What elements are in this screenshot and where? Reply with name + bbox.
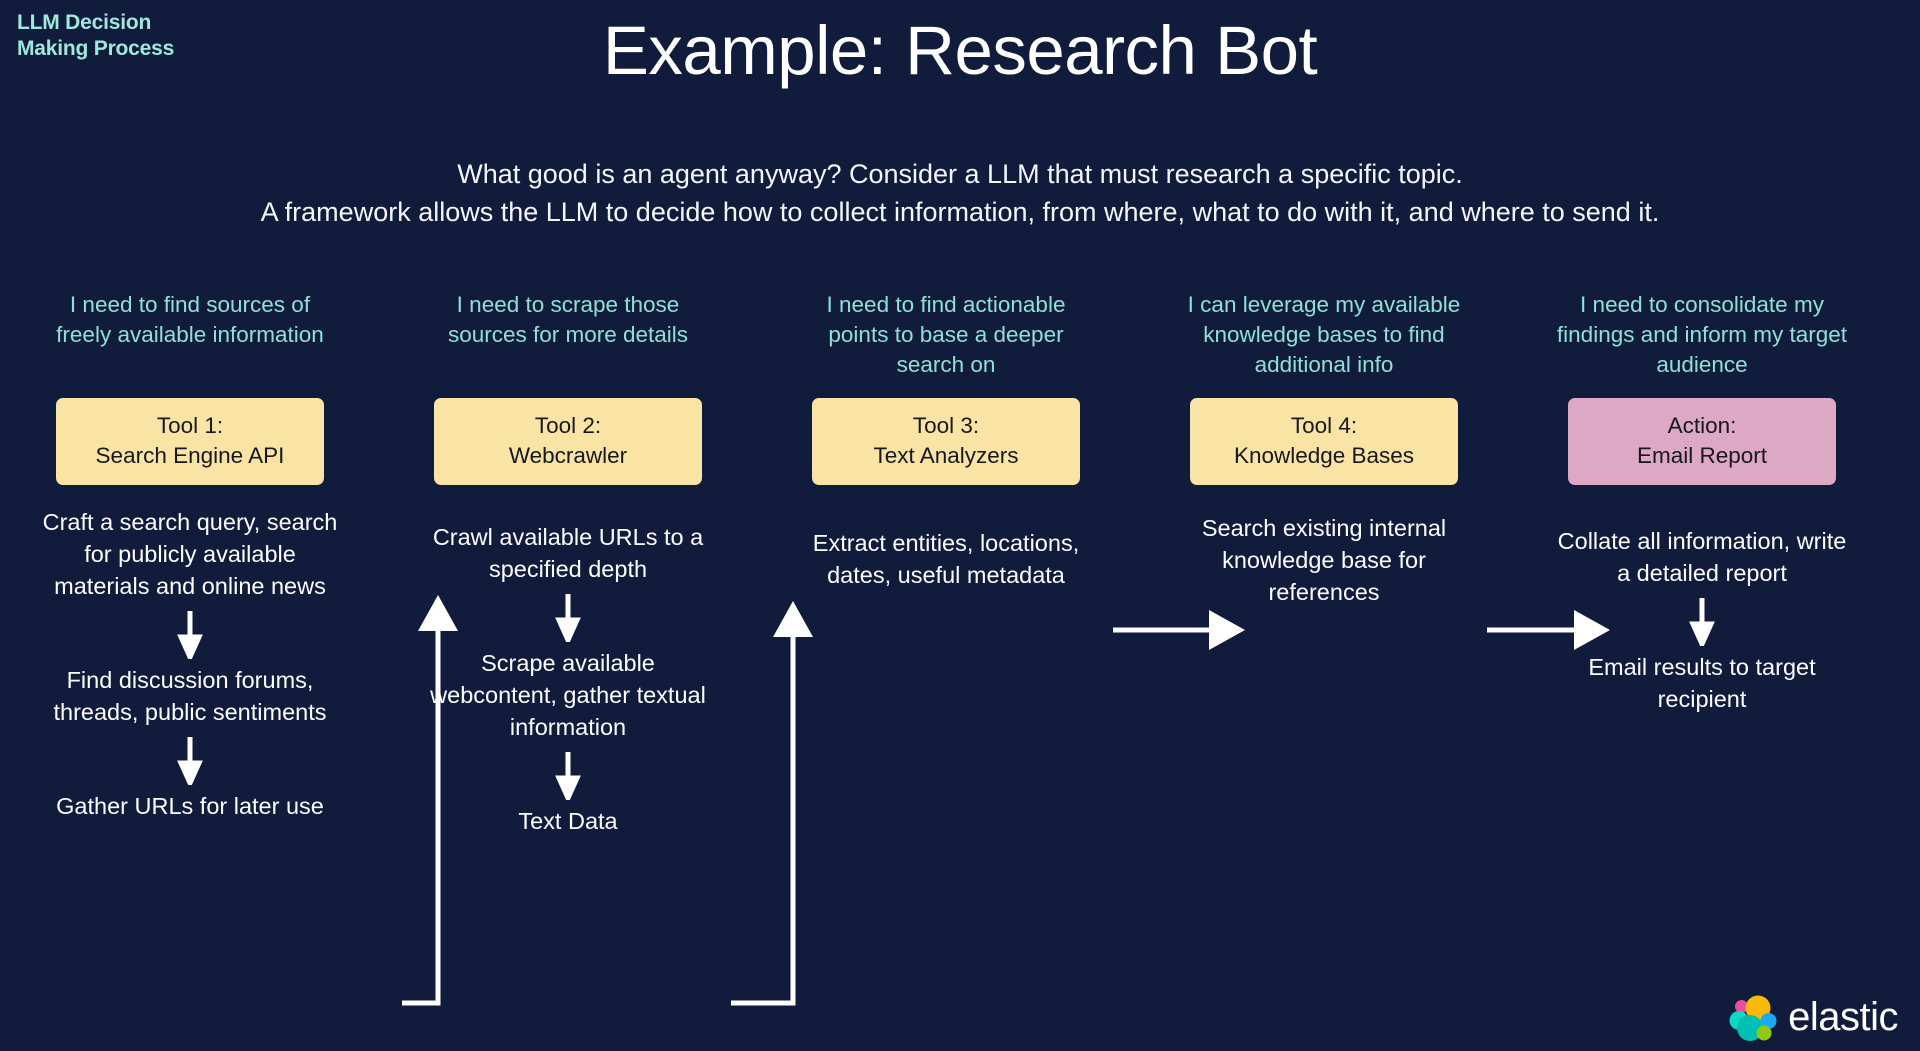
step-node: Email results to target recipient [1552,652,1852,716]
flow-column-5: I need to consolidate my findings and in… [1552,290,1852,716]
action-box-5[interactable]: Action: Email Report [1568,398,1836,485]
flow-columns: I need to find sources of freely availab… [0,290,1920,990]
tool-box-2-line1: Tool 2: [535,413,601,438]
column-intent-3: I need to find actionable points to base… [796,290,1096,394]
down-arrow-icon [1552,590,1852,652]
tool-box-1-line2: Search Engine API [62,441,318,471]
column-steps-3: Extract entities, locations, dates, usef… [796,528,1096,592]
tool-box-2-line2: Webcrawler [440,441,696,471]
tool-box-1-line1: Tool 1: [157,413,223,438]
step-node: Gather URLs for later use [40,791,340,823]
column-steps-5: Collate all information, write a detaile… [1552,526,1852,716]
down-arrow-icon [40,603,340,665]
step-node: Craft a search query, search for publicl… [40,507,340,603]
elastic-mark-icon [1728,995,1778,1043]
down-arrow-icon [418,586,718,648]
tool-box-1[interactable]: Tool 1: Search Engine API [56,398,324,485]
tool-box-3-line2: Text Analyzers [818,441,1074,471]
flow-column-1: I need to find sources of freely availab… [40,290,340,823]
column-steps-2: Crawl available URLs to a specified dept… [418,522,718,838]
step-node: Scrape available webcontent, gather text… [418,648,718,744]
column-intent-4: I can leverage my available knowledge ba… [1174,290,1474,394]
elastic-wordmark: elastic [1788,997,1898,1042]
flow-column-2: I need to scrape those sources for more … [418,290,718,838]
tool-box-3-line1: Tool 3: [913,413,979,438]
step-node: Collate all information, write a detaile… [1552,526,1852,590]
down-arrow-icon [418,744,718,806]
slide-subtitle: What good is an agent anyway? Consider a… [0,155,1920,232]
action-box-5-line1: Action: [1668,413,1737,438]
step-node: Extract entities, locations, dates, usef… [796,528,1096,592]
step-node: Search existing internal knowledge base … [1174,513,1474,609]
step-node: Find discussion forums, threads, public … [40,665,340,729]
flow-column-4: I can leverage my available knowledge ba… [1174,290,1474,609]
tool-box-4-line2: Knowledge Bases [1196,441,1452,471]
tool-box-2[interactable]: Tool 2: Webcrawler [434,398,702,485]
column-steps-1: Craft a search query, search for publicl… [40,507,340,823]
elastic-logo: elastic [1728,995,1898,1043]
slide-subtitle-line1: What good is an agent anyway? Consider a… [0,155,1920,193]
step-node: Text Data [418,806,718,838]
tool-box-3[interactable]: Tool 3: Text Analyzers [812,398,1080,485]
slide-subtitle-line2: A framework allows the LLM to decide how… [0,193,1920,231]
column-intent-1: I need to find sources of freely availab… [40,290,340,394]
column-intent-2: I need to scrape those sources for more … [418,290,718,394]
flow-column-3: I need to find actionable points to base… [796,290,1096,592]
page-title: Example: Research Bot [0,16,1920,85]
tool-box-4-line1: Tool 4: [1291,413,1357,438]
column-intent-5: I need to consolidate my findings and in… [1552,290,1852,394]
down-arrow-icon [40,729,340,791]
step-node: Crawl available URLs to a specified dept… [418,522,718,586]
tool-box-4[interactable]: Tool 4: Knowledge Bases [1190,398,1458,485]
column-steps-4: Search existing internal knowledge base … [1174,513,1474,609]
action-box-5-line2: Email Report [1574,441,1830,471]
